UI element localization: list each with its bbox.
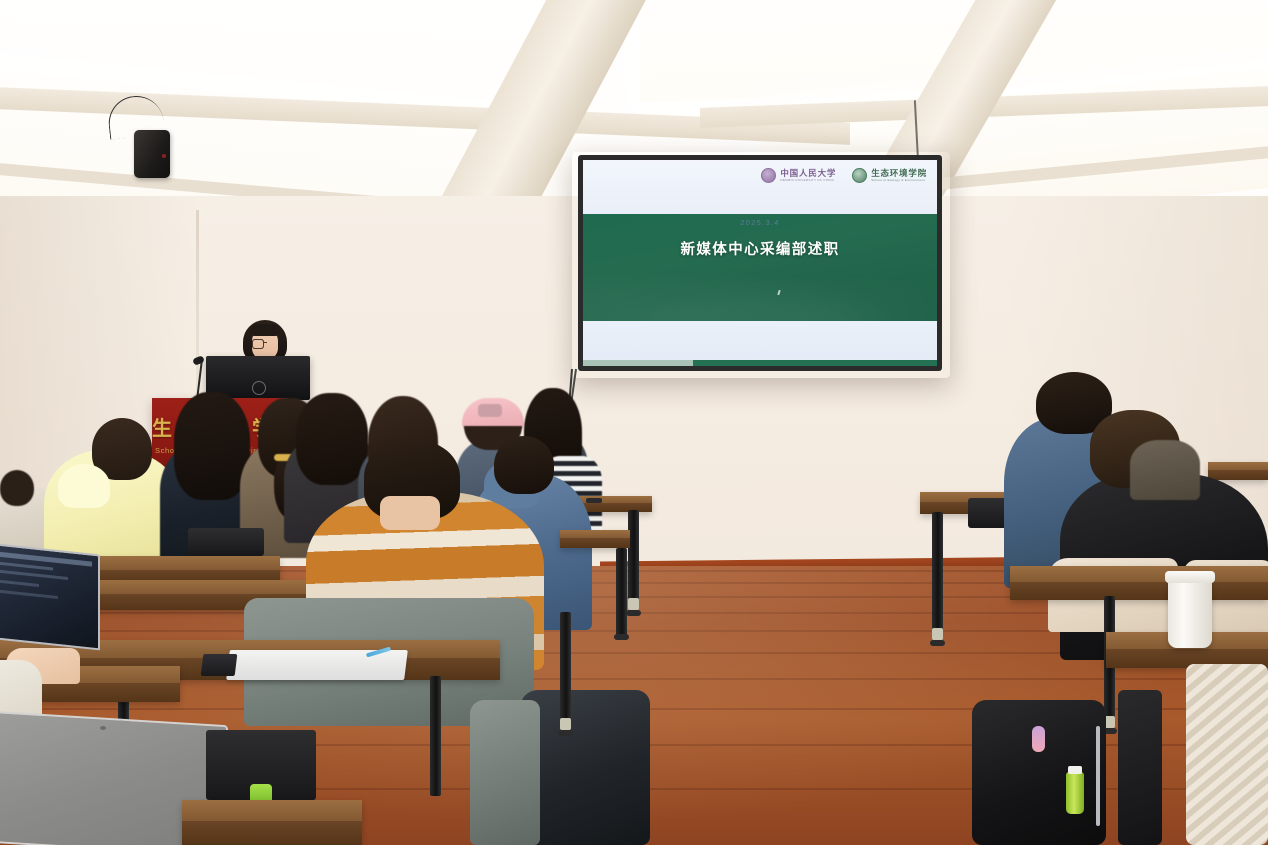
- slide-logo-row: 中国人民大学 RENMIN UNIVERSITY OF CHINA 生态环境学院…: [761, 168, 927, 183]
- bottle-cap: [1068, 766, 1082, 774]
- logo-cn-label: 中国人民大学: [780, 169, 836, 178]
- slide-band-texture: [583, 262, 937, 321]
- coffee-cup[interactable]: [1168, 578, 1212, 648]
- checkered-bag: [1186, 664, 1268, 845]
- slide: 中国人民大学 RENMIN UNIVERSITY OF CHINA 生态环境学院…: [583, 160, 937, 366]
- slide-date: 2025.3.4: [583, 218, 937, 227]
- desk-leg: [430, 676, 441, 796]
- logo-renmin-university: 中国人民大学 RENMIN UNIVERSITY OF CHINA: [761, 168, 836, 183]
- logo-en-label: School of Ecology & Environment: [871, 179, 927, 182]
- jacket-hanging: [470, 700, 540, 845]
- desk-leg: [628, 510, 639, 602]
- logo-cn-label: 生态环境学院: [871, 169, 927, 178]
- cup-lid: [1165, 571, 1215, 583]
- chair: [188, 528, 264, 556]
- school-tree-seal-icon: [852, 168, 867, 183]
- glasses-icon: [252, 339, 278, 347]
- desk-leg: [932, 512, 943, 632]
- desk-foot: [558, 730, 573, 736]
- slide-footer-bar-left: [583, 360, 693, 366]
- desk-leg-cap: [932, 628, 943, 640]
- logo-en-label: RENMIN UNIVERSITY OF CHINA: [780, 179, 836, 182]
- laptop-webcam-icon: [100, 726, 106, 730]
- presenter-bangs: [250, 324, 280, 336]
- desk-leg: [560, 612, 571, 722]
- wall-speaker-icon: [134, 130, 170, 178]
- desk-leg-cap: [628, 598, 639, 610]
- water-bottle[interactable]: [1066, 772, 1084, 814]
- university-seal-icon: [761, 168, 776, 183]
- backpack-charm: [1032, 726, 1045, 752]
- desk-foot: [930, 640, 945, 646]
- laptop-open-left[interactable]: [0, 548, 98, 658]
- desk-leg: [616, 548, 627, 636]
- slide-title: 新媒体中心采编部述职: [583, 238, 937, 259]
- desk: [1010, 566, 1268, 600]
- slide-footer-bar-right: [693, 360, 937, 366]
- desk-leg-cap: [560, 718, 571, 730]
- logo-school-of-ecology: 生态环境学院 School of Ecology & Environment: [852, 168, 927, 183]
- slide-header: 中国人民大学 RENMIN UNIVERSITY OF CHINA 生态环境学院…: [583, 160, 937, 214]
- desk: [560, 530, 630, 548]
- desk: [182, 800, 362, 845]
- luggage-handle: [1096, 726, 1100, 826]
- presentation-display[interactable]: 中国人民大学 RENMIN UNIVERSITY OF CHINA 生态环境学院…: [578, 155, 942, 371]
- person-far-right: [1130, 430, 1200, 500]
- classroom-photo: 中国人民大学 RENMIN UNIVERSITY OF CHINA 生态环境学院…: [0, 0, 1268, 845]
- desk-foot: [614, 634, 629, 640]
- backpack[interactable]: [972, 700, 1106, 845]
- slide-title-band: [583, 214, 937, 321]
- tablet[interactable]: [201, 654, 238, 676]
- bag-right: [1118, 690, 1162, 845]
- desk-foot: [626, 610, 641, 616]
- laptop-closed[interactable]: [226, 650, 408, 680]
